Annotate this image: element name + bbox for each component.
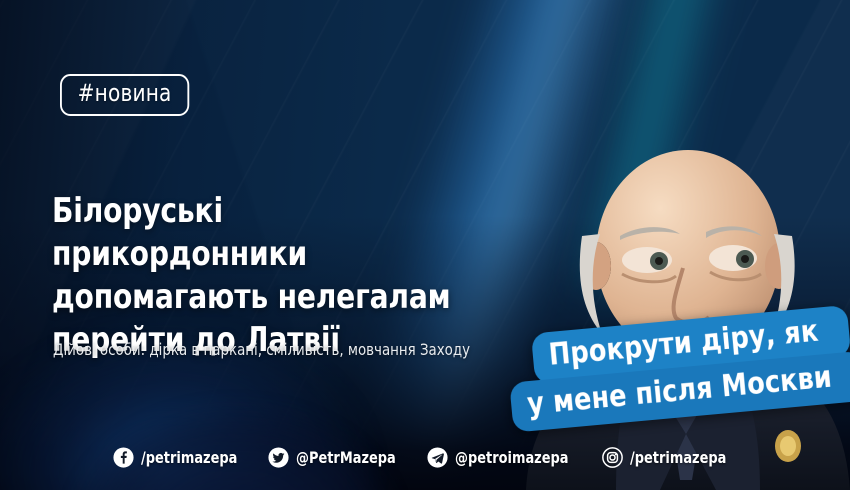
social-link-telegram[interactable]: @petroimazepa [427,447,581,468]
news-card: #новина Білоруські прикордонники допомаг… [0,0,850,490]
twitter-icon [268,447,289,468]
social-handle-twitter: @PetrMazepa [296,450,396,466]
social-link-facebook[interactable]: /petrimazepa [113,447,248,468]
telegram-icon [427,447,448,468]
social-handle-telegram: @petroimazepa [455,450,569,466]
page-title: Білоруські прикордонники допомагають нел… [52,190,522,362]
facebook-icon [113,447,134,468]
social-link-instagram[interactable]: /petrimazepa [602,447,737,468]
social-handle-instagram: /petrimazepa [630,450,726,466]
social-link-twitter[interactable]: @PetrMazepa [268,447,407,468]
headline-line-1: Білоруські прикордонники [52,190,484,276]
headline-line-2: допомагають нелегалам [52,276,484,319]
social-bar: /petrimazepa @PetrMazepa @petroimazepa [0,447,850,468]
news-badge[interactable]: #новина [60,74,189,116]
instagram-icon [602,447,623,468]
subtitle: Дійові особи: дірка в паркані, сміливіст… [53,340,470,360]
social-handle-facebook: /petrimazepa [141,450,237,466]
